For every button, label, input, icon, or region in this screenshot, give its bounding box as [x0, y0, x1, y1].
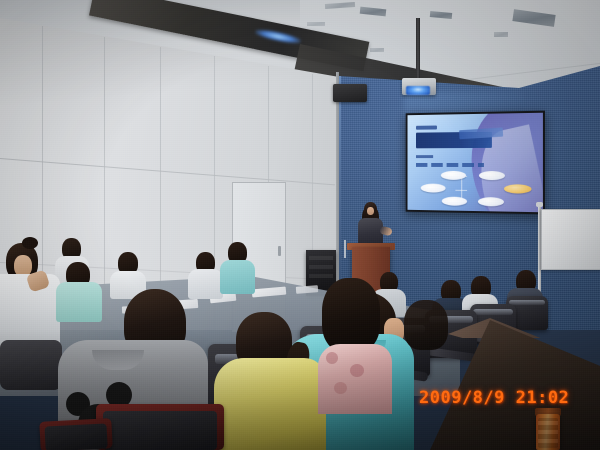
rack-slot [309, 274, 333, 278]
rack-slot [309, 256, 333, 260]
person-torso [188, 269, 223, 299]
microphone-stand [344, 240, 346, 258]
person-head [322, 278, 380, 352]
projector-mount-pole [416, 18, 420, 80]
ceiling-speaker-icon [333, 84, 367, 102]
ceiling-marking [307, 22, 325, 26]
camera-timestamp: 2009/8/9 21:02 [419, 388, 569, 408]
slide-node-4 [442, 197, 467, 206]
ceiling-marking [494, 32, 508, 37]
slide-connector [461, 176, 462, 198]
chair-seat-cushion [45, 423, 108, 450]
rack-slot [309, 265, 333, 269]
slide-kicker-text [416, 126, 437, 130]
chair-backrest-highlight [473, 309, 513, 315]
whiteboard-stand-cap [536, 202, 543, 207]
thermos-texture [538, 418, 558, 448]
person-lap [0, 340, 62, 390]
floral-pattern [326, 352, 338, 364]
slide-node-5 [478, 197, 504, 206]
projector-lens-icon [406, 86, 430, 95]
person-torso [56, 282, 102, 322]
chair-with-red-trim[interactable] [96, 404, 224, 450]
door-handle[interactable] [278, 246, 281, 256]
slide-subheading-text [416, 155, 433, 158]
slide-node-2 [479, 171, 505, 180]
slide-node-6-highlighted [504, 184, 532, 193]
person-torso [214, 358, 326, 450]
slide-node-1 [441, 171, 466, 180]
ceiling-marking [370, 48, 384, 52]
slide-body-text [416, 163, 484, 167]
person-hair-bun [22, 237, 38, 249]
floral-pattern [350, 364, 364, 377]
person-torso [220, 260, 255, 294]
projection-screen [406, 111, 545, 215]
presenter-face [367, 207, 374, 215]
chair-backrest-highlight [509, 300, 545, 305]
whiteboard [541, 209, 600, 270]
chair-seat-cushion [103, 411, 217, 450]
person-head [404, 300, 448, 350]
chair-with-red-trim[interactable] [39, 418, 112, 450]
floral-pattern [334, 382, 347, 394]
photograph: 2009/8/9 21:02 [0, 0, 600, 450]
projected-slide [408, 113, 543, 213]
slide-node-3 [421, 184, 446, 193]
